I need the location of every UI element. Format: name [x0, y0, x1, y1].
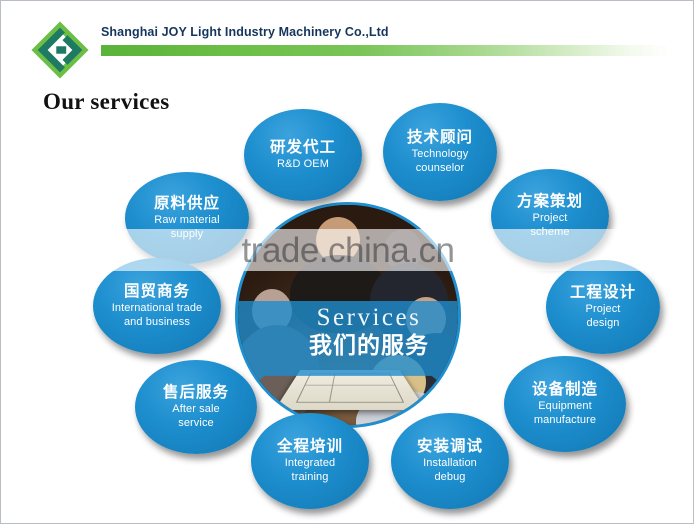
service-bubble-project-design[interactable]: 工程设计 Projectdesign [546, 260, 660, 354]
service-label-en: Projectdesign [586, 303, 621, 331]
service-label-cn: 工程设计 [570, 283, 636, 302]
services-diagram: Services 我们的服务 研发代工 R&D OEM 技术顾问 Technol… [1, 91, 694, 511]
service-bubble-integrated-training[interactable]: 全程培训 Integratedtraining [251, 413, 369, 509]
service-label-en: After saleservice [172, 403, 219, 431]
service-bubble-rd-oem[interactable]: 研发代工 R&D OEM [244, 109, 362, 201]
service-label-en: Equipmentmanufacture [534, 400, 596, 428]
service-label-en: Raw materialsupply [154, 214, 219, 242]
service-label-cn: 安装调试 [417, 437, 483, 456]
service-bubble-international-trade[interactable]: 国贸商务 International tradeand business [93, 258, 221, 354]
service-label-cn: 售后服务 [163, 383, 229, 402]
service-label-en: Integratedtraining [285, 457, 336, 485]
slide-canvas: Shanghai JOY Light Industry Machinery Co… [0, 0, 694, 524]
service-label-en: Projectscheme [530, 212, 569, 240]
service-label-en: R&D OEM [277, 158, 329, 172]
service-bubble-technology-counselor[interactable]: 技术顾问 Technologycounselor [383, 103, 497, 201]
service-bubble-raw-material-supply[interactable]: 原料供应 Raw materialsupply [125, 172, 249, 264]
service-label-en: Technologycounselor [412, 148, 469, 176]
blueprint [275, 370, 426, 410]
service-label-cn: 设备制造 [532, 380, 598, 399]
service-label-cn: 方案策划 [517, 192, 583, 211]
service-bubble-after-sale-service[interactable]: 售后服务 After saleservice [135, 360, 257, 454]
service-label-en: Installationdebug [423, 457, 477, 485]
company-name: Shanghai JOY Light Industry Machinery Co… [101, 25, 389, 39]
service-label-cn: 国贸商务 [124, 282, 190, 301]
service-label-cn: 研发代工 [270, 138, 336, 157]
service-label-cn: 技术顾问 [407, 128, 473, 147]
service-label-cn: 原料供应 [154, 194, 220, 213]
service-bubble-installation-debug[interactable]: 安装调试 Installationdebug [391, 413, 509, 509]
service-label-en: International tradeand business [112, 302, 203, 330]
service-bubble-equipment-manufacture[interactable]: 设备制造 Equipmentmanufacture [504, 356, 626, 452]
service-label-cn: 全程培训 [277, 437, 343, 456]
page-header: Shanghai JOY Light Industry Machinery Co… [1, 1, 694, 87]
company-logo-icon [29, 19, 91, 81]
center-circle: Services 我们的服务 [235, 202, 461, 428]
service-bubble-project-scheme[interactable]: 方案策划 Projectscheme [491, 169, 609, 263]
header-accent-bar [101, 45, 671, 56]
